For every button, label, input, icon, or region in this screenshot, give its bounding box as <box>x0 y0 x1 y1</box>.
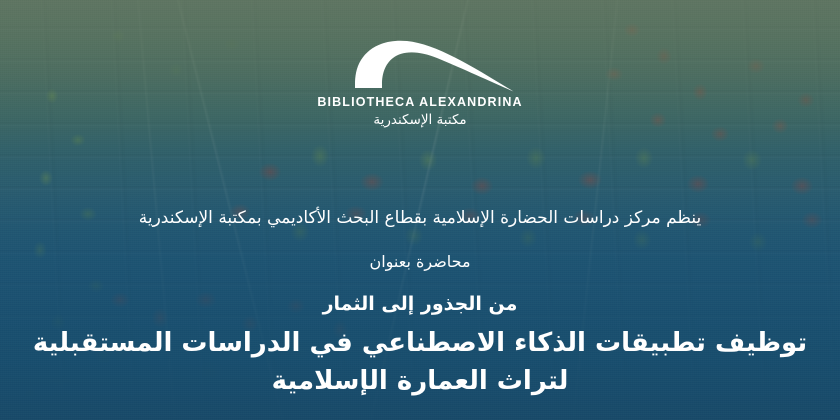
logo-arabic-name: مكتبة الإسكندرية <box>373 112 466 128</box>
poster-content: BIBLIOTHECA ALEXANDRINA مكتبة الإسكندرية… <box>0 0 840 420</box>
bibliotheca-alexandrina-swoosh-icon <box>325 38 515 93</box>
lecture-title-line-3: لتراث العمارة الإسلامية <box>33 366 807 396</box>
lecture-title-line-2: توظيف تطبيقات الذكاء الاصطناعي في الدراس… <box>33 328 807 358</box>
event-poster: BIBLIOTHECA ALEXANDRINA مكتبة الإسكندرية… <box>0 0 840 420</box>
logo-latin-name: BIBLIOTHECA ALEXANDRINA <box>317 95 522 109</box>
lecture-label: محاضرة بعنوان <box>369 252 470 271</box>
bibliotheca-alexandrina-logo: BIBLIOTHECA ALEXANDRINA مكتبة الإسكندرية <box>310 38 530 128</box>
lecture-title-group: من الجذور إلى الثمار توظيف تطبيقات الذكا… <box>33 293 807 396</box>
organiser-line: ينظم مركز دراسات الحضارة الإسلامية بقطاع… <box>139 206 702 232</box>
lecture-title-line-1: من الجذور إلى الثمار <box>33 293 807 315</box>
